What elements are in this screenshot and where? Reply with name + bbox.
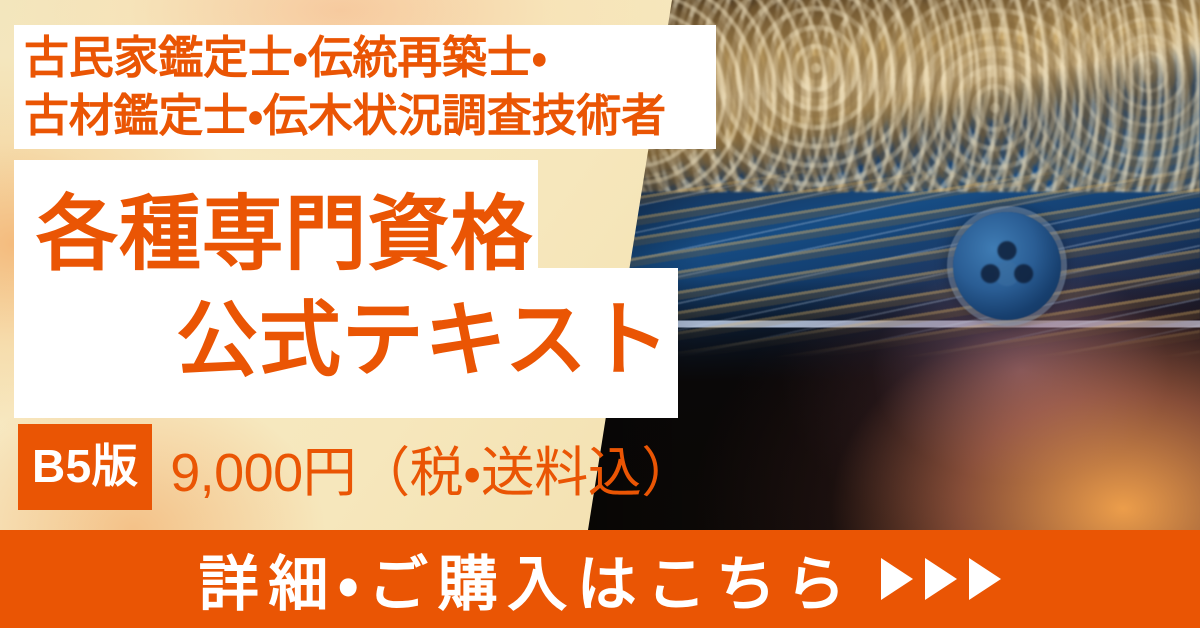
arrow-right-icon-1 [881, 558, 913, 600]
promo-banner: 伝統構法 古民家活用のための調査と再生の 古民家 古民家鑑定士・伝統再築士・ 古… [0, 0, 1200, 628]
headline-line-1: 古民家鑑定士・伝統再築士・ [24, 29, 716, 87]
price-row: B5版 9,000円（税・送料込） [18, 424, 695, 510]
headline: 古民家鑑定士・伝統再築士・ 古材鑑定士・伝木状況調査技術者 [16, 27, 716, 147]
price-amount: 9,000円（税・送料込） [170, 428, 694, 507]
subhead: 各種専門資格 公式テキスト [14, 168, 678, 412]
cta-bar[interactable]: 詳細・ご購入はこちら [0, 530, 1200, 628]
format-badge: B5版 [18, 424, 152, 510]
cta-label: 詳細・ご購入はこちら [199, 536, 855, 623]
subhead-line-1: 各種専門資格 [36, 188, 533, 281]
headline-line-2: 古材鑑定士・伝木状況調査技術者 [24, 87, 716, 145]
subhead-line-2: 公式テキスト [176, 294, 670, 387]
cta-arrows [881, 558, 1001, 600]
arrow-right-icon-3 [969, 558, 1001, 600]
arrow-right-icon-2 [925, 558, 957, 600]
